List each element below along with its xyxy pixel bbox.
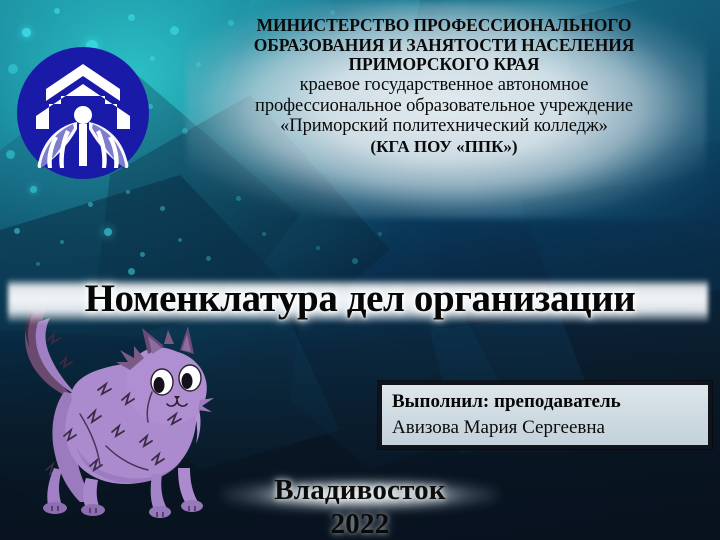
author-role-label: Выполнил: преподаватель <box>392 389 708 415</box>
author-box: Выполнил: преподаватель Авизова Мария Се… <box>378 381 712 449</box>
page-title: Номенклатура дел организации <box>0 276 720 321</box>
ministry-emblem-icon <box>14 44 152 182</box>
header-line-6: «Приморский политехнический колледж» <box>170 116 718 137</box>
presentation-slide: МИНИСТЕРСТВО ПРОФЕССИОНАЛЬНОГО ОБРАЗОВАН… <box>0 0 720 540</box>
footer-city: Владивосток <box>0 473 720 507</box>
footer: Владивосток 2022 <box>0 473 720 540</box>
institution-header: МИНИСТЕРСТВО ПРОФЕССИОНАЛЬНОГО ОБРАЗОВАН… <box>170 16 718 156</box>
header-line-1: МИНИСТЕРСТВО ПРОФЕССИОНАЛЬНОГО <box>170 16 718 36</box>
footer-year: 2022 <box>0 507 720 540</box>
header-line-3: ПРИМОРСКОГО КРАЯ <box>170 55 718 75</box>
header-line-7: (КГА ПОУ «ППК») <box>170 137 718 156</box>
author-name: Авизова Мария Сергеевна <box>392 415 708 441</box>
header-line-2: ОБРАЗОВАНИЯ И ЗАНЯТОСТИ НАСЕЛЕНИЯ <box>170 36 718 56</box>
header-line-4: краевое государственное автономное <box>170 75 718 96</box>
header-line-5: профессиональное образовательное учрежде… <box>170 96 718 117</box>
